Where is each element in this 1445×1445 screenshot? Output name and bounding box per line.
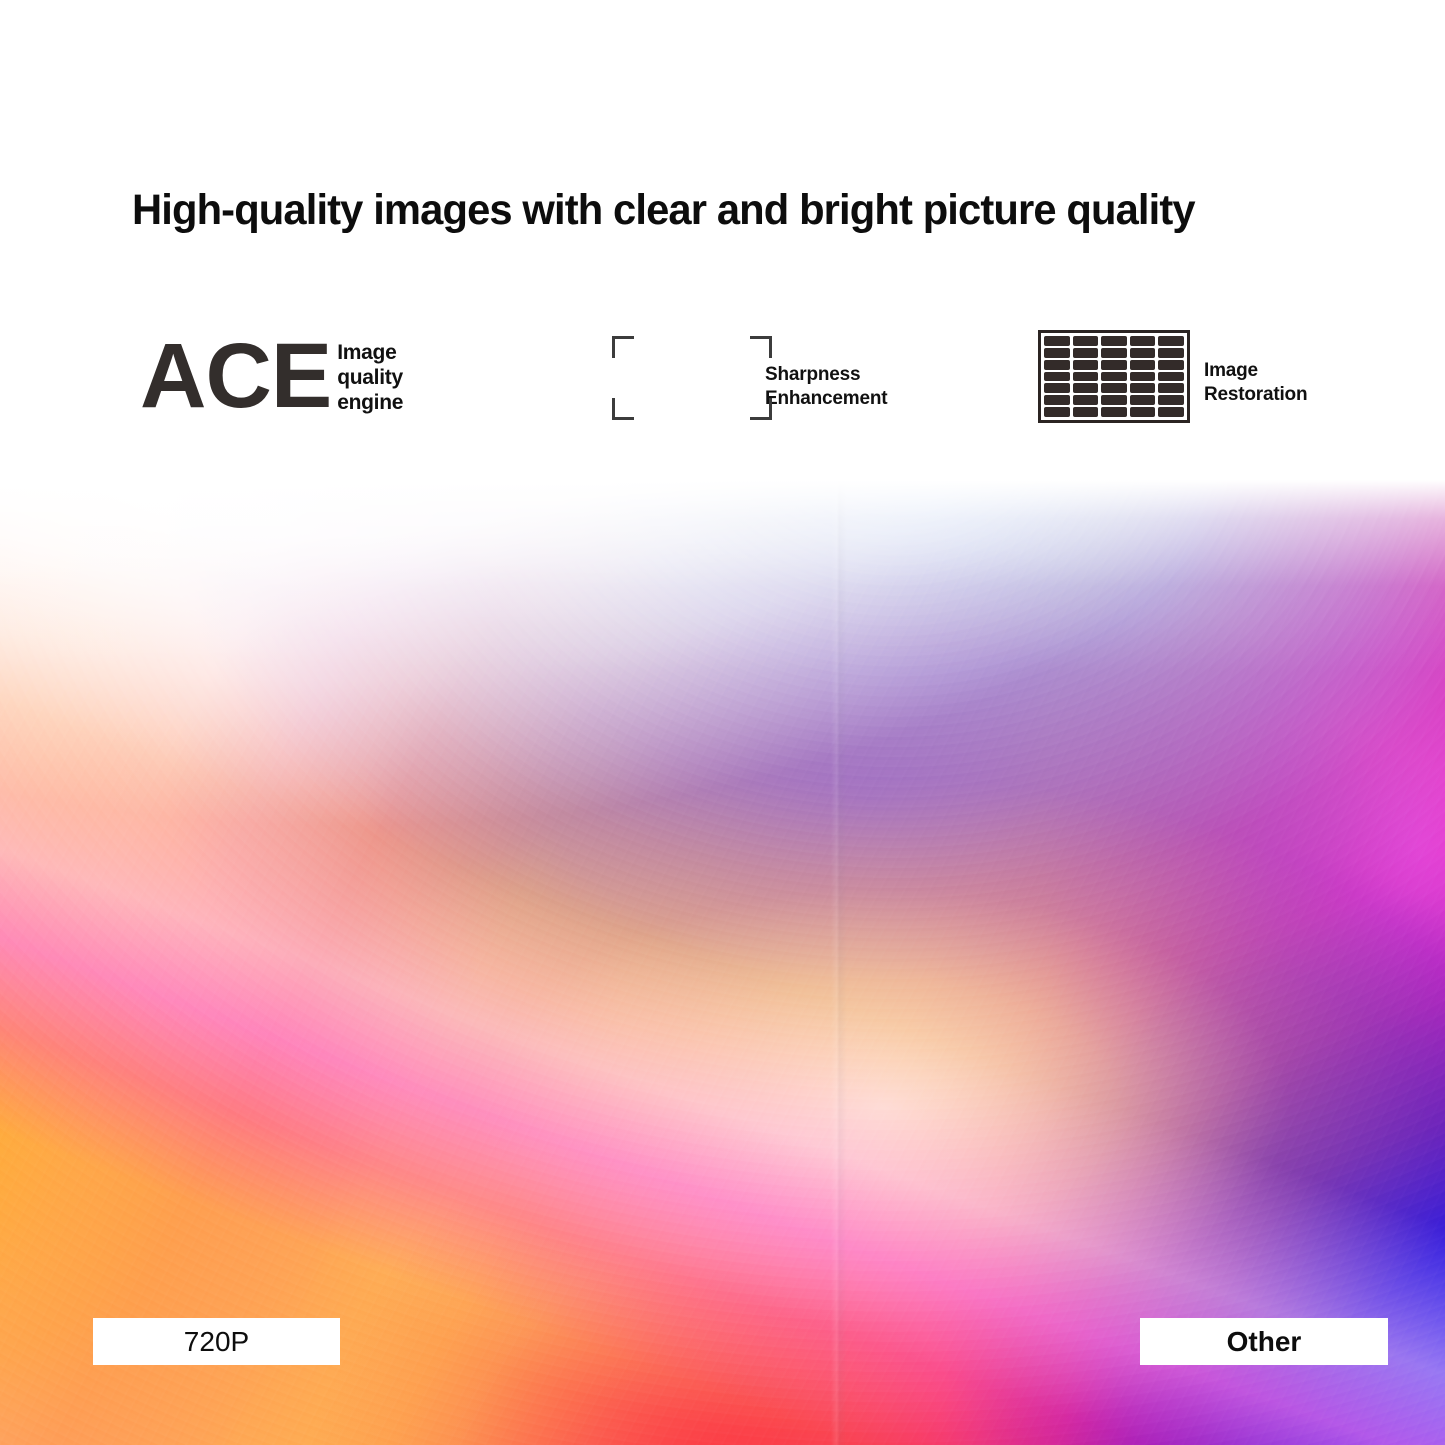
feature-image-restoration: Image Restoration bbox=[1038, 330, 1307, 423]
feature-caption-line: Restoration bbox=[1204, 383, 1307, 407]
pixel-grid-cell bbox=[1158, 395, 1184, 405]
feature-caption-line: Image bbox=[1204, 359, 1307, 383]
pixel-grid-cell bbox=[1130, 348, 1156, 358]
pixel-grid-cell bbox=[1158, 336, 1184, 346]
feature-ace-engine: ACE Image quality engine bbox=[140, 330, 403, 422]
pixel-grid-cell bbox=[1073, 336, 1099, 346]
pixel-grid-cell bbox=[1044, 407, 1070, 417]
pixel-grid-cell bbox=[1101, 395, 1127, 405]
pixel-grid-cell bbox=[1130, 395, 1156, 405]
feature-row: ACE Image quality engine Sharpness Enhan… bbox=[0, 330, 1445, 450]
gradient-top-fade bbox=[0, 480, 1445, 1445]
pixel-grid-cell bbox=[1158, 372, 1184, 382]
ace-wordmark-icon: ACE bbox=[140, 330, 331, 422]
pixel-grid-cell bbox=[1044, 360, 1070, 370]
header-panel: High-quality images with clear and brigh… bbox=[0, 0, 1445, 480]
pixel-grid-cell bbox=[1130, 407, 1156, 417]
feature-sharpness-enhancement: Sharpness Enhancement bbox=[608, 330, 887, 425]
pixel-grid-cell bbox=[1158, 348, 1184, 358]
focus-frame-icon bbox=[608, 330, 773, 425]
feature-ace-engine-caption: Image quality engine bbox=[337, 340, 403, 415]
corner-bracket-top-left-icon bbox=[612, 336, 634, 358]
pixel-grid-cell bbox=[1101, 383, 1127, 393]
pixel-grid-cell bbox=[1101, 407, 1127, 417]
feature-caption-line: Sharpness bbox=[765, 363, 887, 387]
comparison-label-left: 720P bbox=[93, 1318, 340, 1365]
feature-sharpness-caption: Sharpness Enhancement bbox=[765, 363, 887, 411]
pixel-grid-cell bbox=[1073, 348, 1099, 358]
pixel-grid-cell bbox=[1101, 336, 1127, 346]
pixel-grid-cell bbox=[1044, 348, 1070, 358]
pixel-grid-cell bbox=[1130, 372, 1156, 382]
pixel-grid-cell bbox=[1101, 372, 1127, 382]
feature-caption-line: Enhancement bbox=[765, 387, 887, 411]
pixel-grid-cell bbox=[1101, 360, 1127, 370]
pixel-grid-icon bbox=[1038, 330, 1190, 423]
pixel-grid-cell bbox=[1044, 395, 1070, 405]
comparison-label-right-text: Other bbox=[1227, 1327, 1302, 1357]
pixel-grid-cell bbox=[1158, 407, 1184, 417]
pixel-grid-cell bbox=[1044, 383, 1070, 393]
page-title: High-quality images with clear and brigh… bbox=[132, 186, 1195, 235]
feature-restoration-caption: Image Restoration bbox=[1204, 359, 1307, 407]
pixel-grid-cell bbox=[1044, 336, 1070, 346]
pixel-grid-cell bbox=[1073, 372, 1099, 382]
pixel-grid-cell bbox=[1130, 360, 1156, 370]
comparison-label-right: Other bbox=[1140, 1318, 1388, 1365]
corner-bracket-top-right-icon bbox=[750, 336, 772, 358]
comparison-label-left-text: 720P bbox=[184, 1327, 249, 1357]
pixel-grid-cell bbox=[1073, 360, 1099, 370]
corner-bracket-bottom-left-icon bbox=[612, 398, 634, 420]
pixel-grid-cell bbox=[1101, 348, 1127, 358]
pixel-grid-cell bbox=[1158, 383, 1184, 393]
pixel-grid-cell bbox=[1130, 383, 1156, 393]
feature-caption-line: quality bbox=[337, 365, 403, 390]
pixel-grid-cell bbox=[1158, 360, 1184, 370]
pixel-grid-cell bbox=[1073, 407, 1099, 417]
pixel-grid-cell bbox=[1073, 383, 1099, 393]
feature-caption-line: Image bbox=[337, 340, 403, 365]
pixel-grid-cell bbox=[1044, 372, 1070, 382]
pixel-grid-cell bbox=[1073, 395, 1099, 405]
corner-bracket-bottom-right-icon bbox=[750, 398, 772, 420]
pixel-grid-cell bbox=[1130, 336, 1156, 346]
pixel-grid bbox=[1044, 336, 1184, 417]
product-gradient-image bbox=[0, 480, 1445, 1445]
feature-caption-line: engine bbox=[337, 390, 403, 415]
